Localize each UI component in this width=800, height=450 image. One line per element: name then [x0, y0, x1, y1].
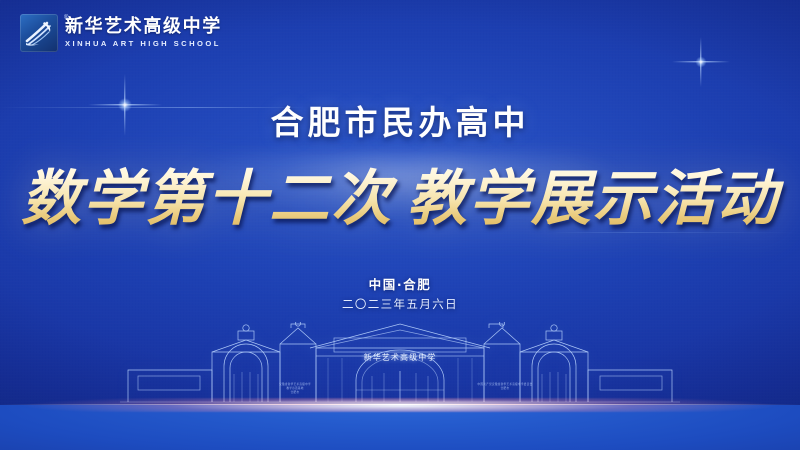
poster-title-part1: 数学第十二次 [21, 164, 393, 234]
logo-name-cn: 新华艺术高级中学 [65, 17, 222, 36]
logo-name-en: XINHUA ART HIGH SCHOOL [65, 39, 222, 48]
event-date: 二〇二三年五月六日 [0, 296, 800, 312]
poster-title-part2: 教学展示活动 [407, 164, 779, 234]
poster-title: 数学第十二次教学展示活动 [0, 150, 800, 237]
gate-banner-text: 新华艺术高级中学 [364, 352, 437, 363]
gate-plaque-left-line3: 合肥市 [262, 391, 328, 395]
registered-mark: ® [64, 15, 68, 21]
gate-plaque-right: 中国共产党安徽省新华艺术高级中学委员会 合肥市 [472, 383, 538, 391]
school-logo: ® 新华艺术高级中学 XINHUA ART HIGH SCHOOL [20, 14, 222, 52]
horizon-line [0, 404, 800, 405]
poster-subtitle: 合肥市民办高中 [0, 96, 800, 144]
gate-plaque-right-line2: 合肥市 [472, 387, 538, 391]
poster-canvas: ® 新华艺术高级中学 XINHUA ART HIGH SCHOOL 合肥市民办高… [0, 0, 800, 450]
swoosh-ribbon-icon [20, 14, 58, 52]
horizon-glow [0, 398, 800, 412]
gate-plaque-left: 安徽省新华艺术高级中学 教学示范基地 合肥市 [262, 383, 328, 395]
event-location: 中国·合肥 [0, 274, 800, 293]
